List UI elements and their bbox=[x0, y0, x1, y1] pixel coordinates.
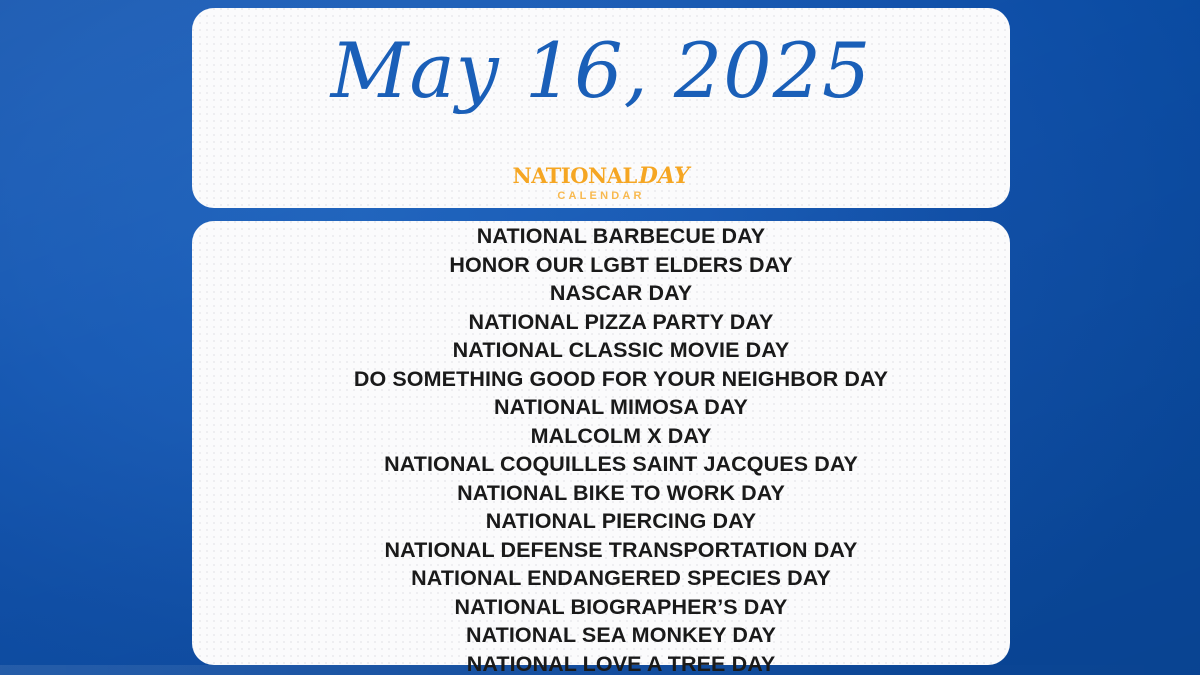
list-item: NATIONAL MIMOSA DAY bbox=[232, 393, 1010, 422]
list-item: NATIONAL BIKE TO WORK DAY bbox=[232, 479, 1010, 508]
list-item: NATIONAL PIERCING DAY bbox=[232, 507, 1010, 536]
list-item: NATIONAL LOVE A TREE DAY bbox=[232, 650, 1010, 675]
list-item: NATIONAL COQUILLES SAINT JACQUES DAY bbox=[232, 450, 1010, 479]
list-item: NATIONAL CLASSIC MOVIE DAY bbox=[232, 336, 1010, 365]
list-item: HONOR OUR LGBT ELDERS DAY bbox=[232, 251, 1010, 280]
list-item: NATIONAL SEA MONKEY DAY bbox=[232, 621, 1010, 650]
poster-canvas: May 16, 2025 National Day CALENDAR NATIO… bbox=[0, 0, 1200, 675]
list-item: NASCAR DAY bbox=[232, 279, 1010, 308]
day-list: NATIONAL BARBECUE DAYHONOR OUR LGBT ELDE… bbox=[192, 221, 1010, 675]
list-item: MALCOLM X DAY bbox=[232, 422, 1010, 451]
list-item: NATIONAL DEFENSE TRANSPORTATION DAY bbox=[232, 536, 1010, 565]
logo-word-calendar: CALENDAR bbox=[557, 190, 644, 202]
national-day-calendar-logo: National Day CALENDAR bbox=[192, 158, 1010, 214]
list-item: NATIONAL BIOGRAPHER’S DAY bbox=[232, 593, 1010, 622]
day-list-card: NATIONAL BARBECUE DAYHONOR OUR LGBT ELDE… bbox=[192, 221, 1010, 665]
list-item: NATIONAL PIZZA PARTY DAY bbox=[232, 308, 1010, 337]
list-item: DO SOMETHING GOOD FOR YOUR NEIGHBOR DAY bbox=[232, 365, 1010, 394]
list-item: NATIONAL BARBECUE DAY bbox=[232, 222, 1010, 251]
logo-word-national: National bbox=[512, 159, 636, 189]
logo-word-day: Day bbox=[639, 158, 690, 189]
page-title: May 16, 2025 bbox=[192, 20, 1010, 123]
logo-wordmark: National Day bbox=[512, 158, 689, 189]
list-item: NATIONAL ENDANGERED SPECIES DAY bbox=[232, 564, 1010, 593]
header-card: May 16, 2025 National Day CALENDAR bbox=[192, 8, 1010, 208]
